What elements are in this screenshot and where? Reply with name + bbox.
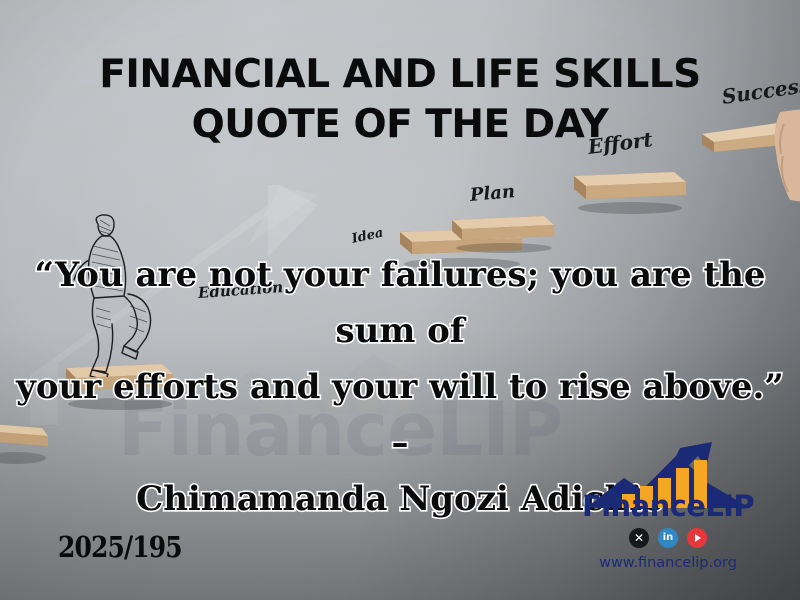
- youtube-play-triangle: [695, 534, 701, 542]
- serial-number: 2025/195: [58, 530, 182, 564]
- linkedin-icon[interactable]: in: [658, 528, 678, 548]
- brand-logo[interactable]: FinanceLIP ✕ in www.financelip.org: [578, 442, 758, 587]
- wooden-block-step-5: [570, 168, 690, 216]
- youtube-icon[interactable]: [687, 528, 707, 548]
- poster-title-line-1: FINANCIAL AND LIFE SKILLS: [0, 50, 800, 100]
- poster-title-line-2: QUOTE OF THE DAY: [0, 100, 800, 150]
- social-links[interactable]: ✕ in: [578, 528, 758, 548]
- x-twitter-icon[interactable]: ✕: [629, 528, 649, 548]
- poster-title: FINANCIAL AND LIFE SKILLS QUOTE OF THE D…: [0, 50, 800, 150]
- plan-label: Plan: [469, 181, 516, 206]
- brand-name: FinanceLIP: [578, 492, 758, 521]
- brand-website-url[interactable]: www.financelip.org: [578, 555, 758, 571]
- quote-line-1: “You are not your failures; you are the …: [8, 247, 792, 359]
